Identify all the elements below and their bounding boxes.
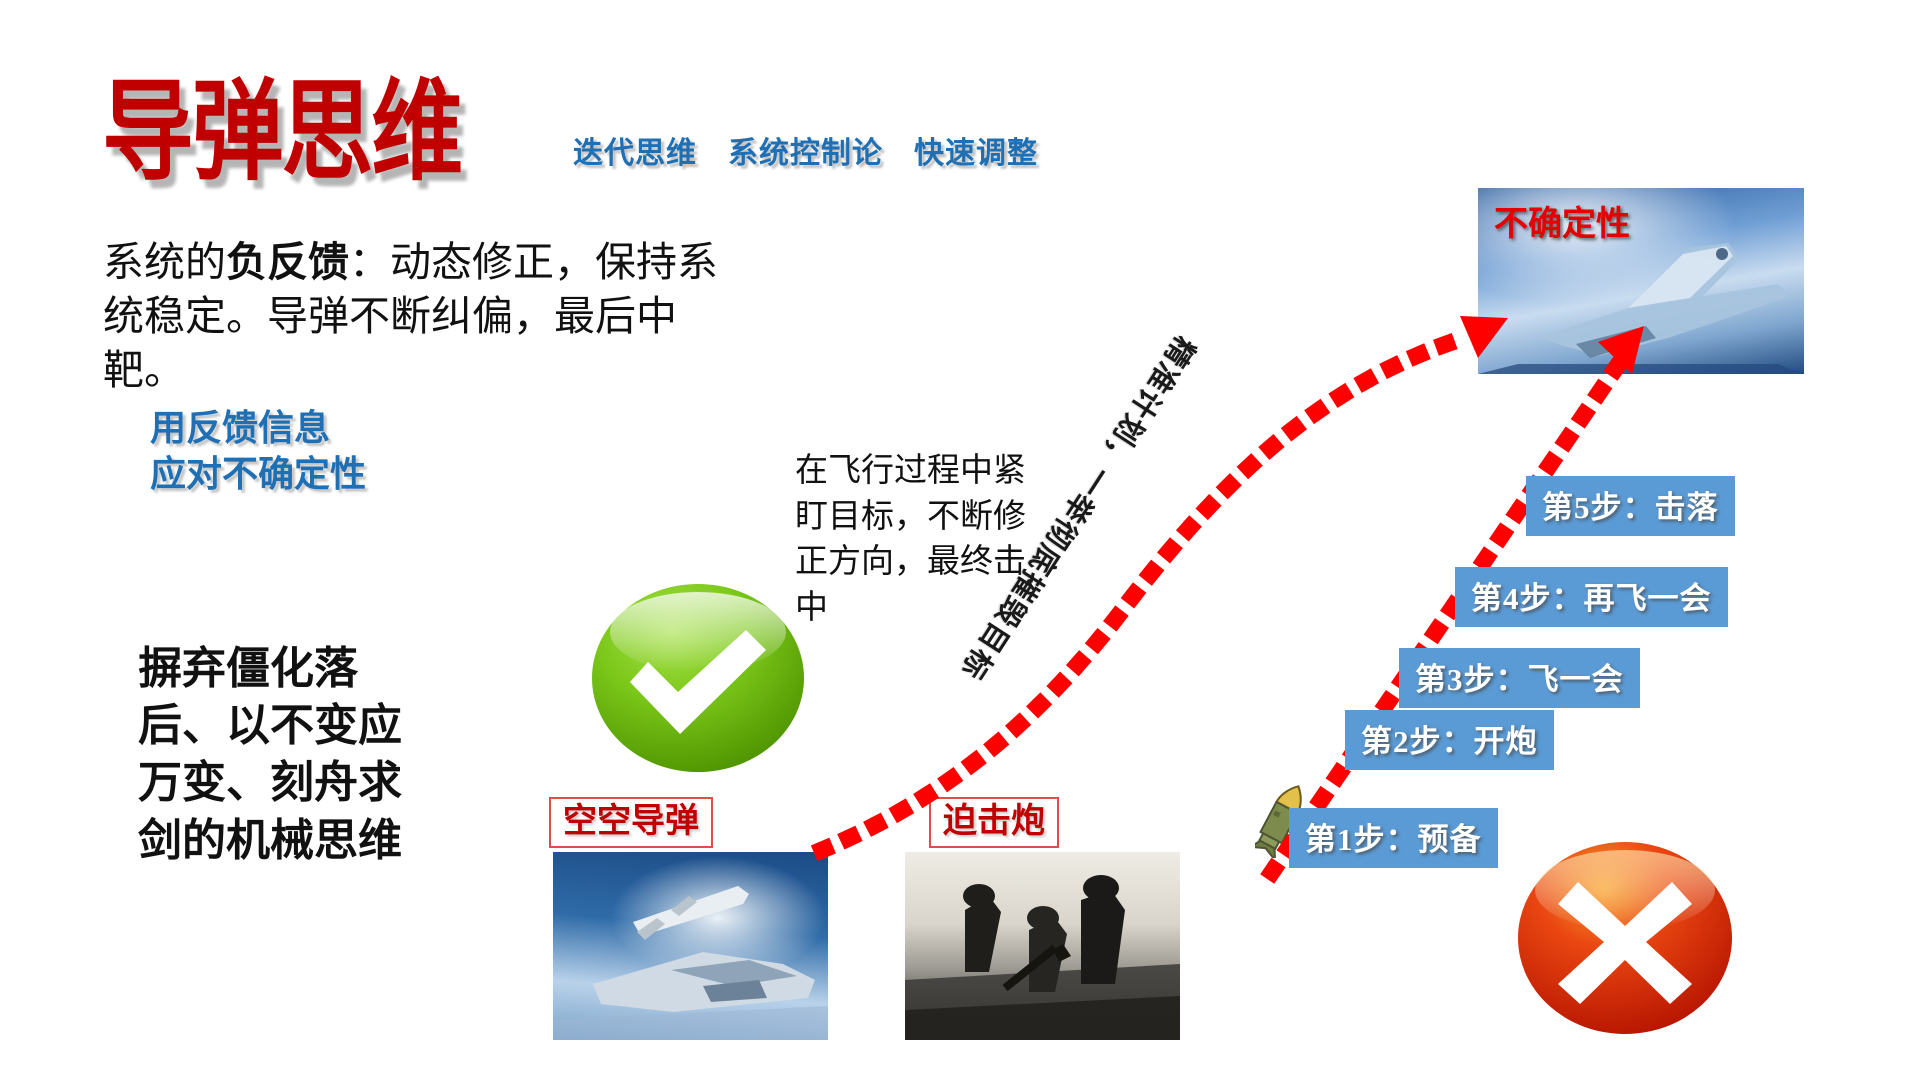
step-chip-4[interactable]: 第4步：再飞一会 xyxy=(1455,567,1728,627)
step-chip-1[interactable]: 第1步：预备 xyxy=(1289,808,1498,868)
step-chip-5[interactable]: 第5步：击落 xyxy=(1526,476,1735,536)
trajectory-arrows xyxy=(0,0,1920,1080)
step-chip-2[interactable]: 第2步：开炮 xyxy=(1345,710,1554,770)
slide-canvas: 导弹思维 迭代思维 系统控制论 快速调整 系统的负反馈：动态修正，保持系统稳定。… xyxy=(0,0,1920,1080)
step-chip-3[interactable]: 第3步：飞一会 xyxy=(1399,648,1640,708)
